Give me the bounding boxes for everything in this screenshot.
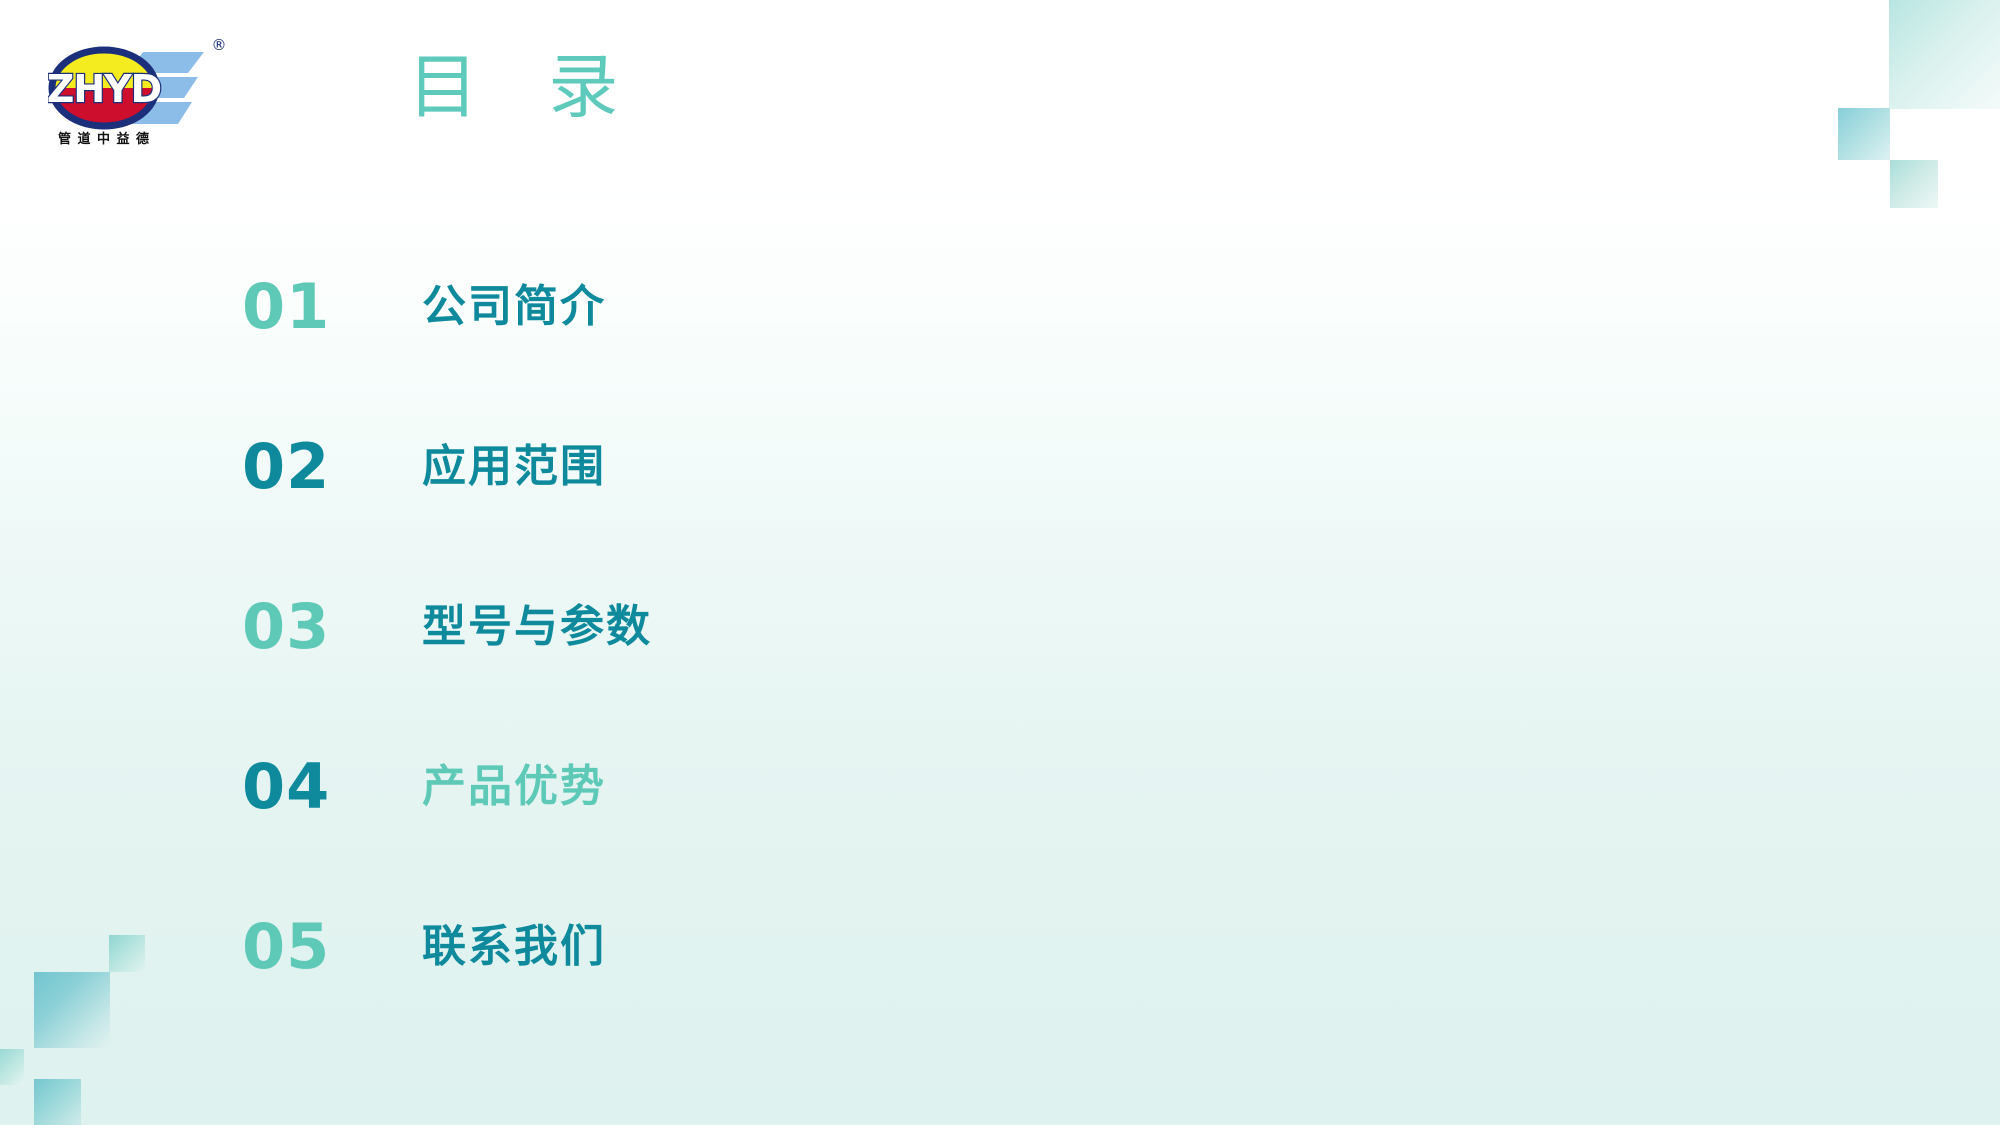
toc-number: 03 xyxy=(242,592,330,662)
decor-square-top-right-medium xyxy=(1838,108,1890,160)
toc-item-label: 产品优势 xyxy=(422,758,606,816)
logo-tagline: 管 道 中 益 德 xyxy=(58,131,150,147)
toc-list: 01 公司简介 02 应用范围 03 型号与参数 04 产品优势 05 联系我们 xyxy=(0,272,1000,1072)
toc-number: 01 xyxy=(242,272,330,342)
logo-wordmark: ZHYD xyxy=(48,67,161,111)
toc-item-03[interactable]: 03 型号与参数 xyxy=(0,592,1000,752)
toc-item-label: 型号与参数 xyxy=(422,598,652,656)
decor-square-top-right-small xyxy=(1890,160,1938,208)
toc-item-05[interactable]: 05 联系我们 xyxy=(0,912,1000,1072)
toc-item-04[interactable]: 04 产品优势 xyxy=(0,752,1000,912)
toc-number: 04 xyxy=(242,752,330,822)
toc-item-label: 应用范围 xyxy=(422,438,606,496)
page-title: 目 录 xyxy=(408,52,642,122)
registered-mark-icon: ® xyxy=(212,36,227,54)
toc-item-02[interactable]: 02 应用范围 xyxy=(0,432,1000,592)
decor-square-top-right-large xyxy=(1889,0,2000,109)
toc-item-label: 公司简介 xyxy=(422,278,606,336)
decor-square-bottom-left-lower xyxy=(34,1079,81,1125)
toc-item-label: 联系我们 xyxy=(422,918,606,976)
company-logo: ZHYD ® 管 道 中 益 德 xyxy=(48,36,238,148)
slide-canvas: ZHYD ® 管 道 中 益 德 目 录 01 公司简介 02 应用范围 03 … xyxy=(0,0,2000,1125)
toc-number: 05 xyxy=(242,912,330,982)
toc-item-01[interactable]: 01 公司简介 xyxy=(0,272,1000,432)
toc-number: 02 xyxy=(242,432,330,502)
